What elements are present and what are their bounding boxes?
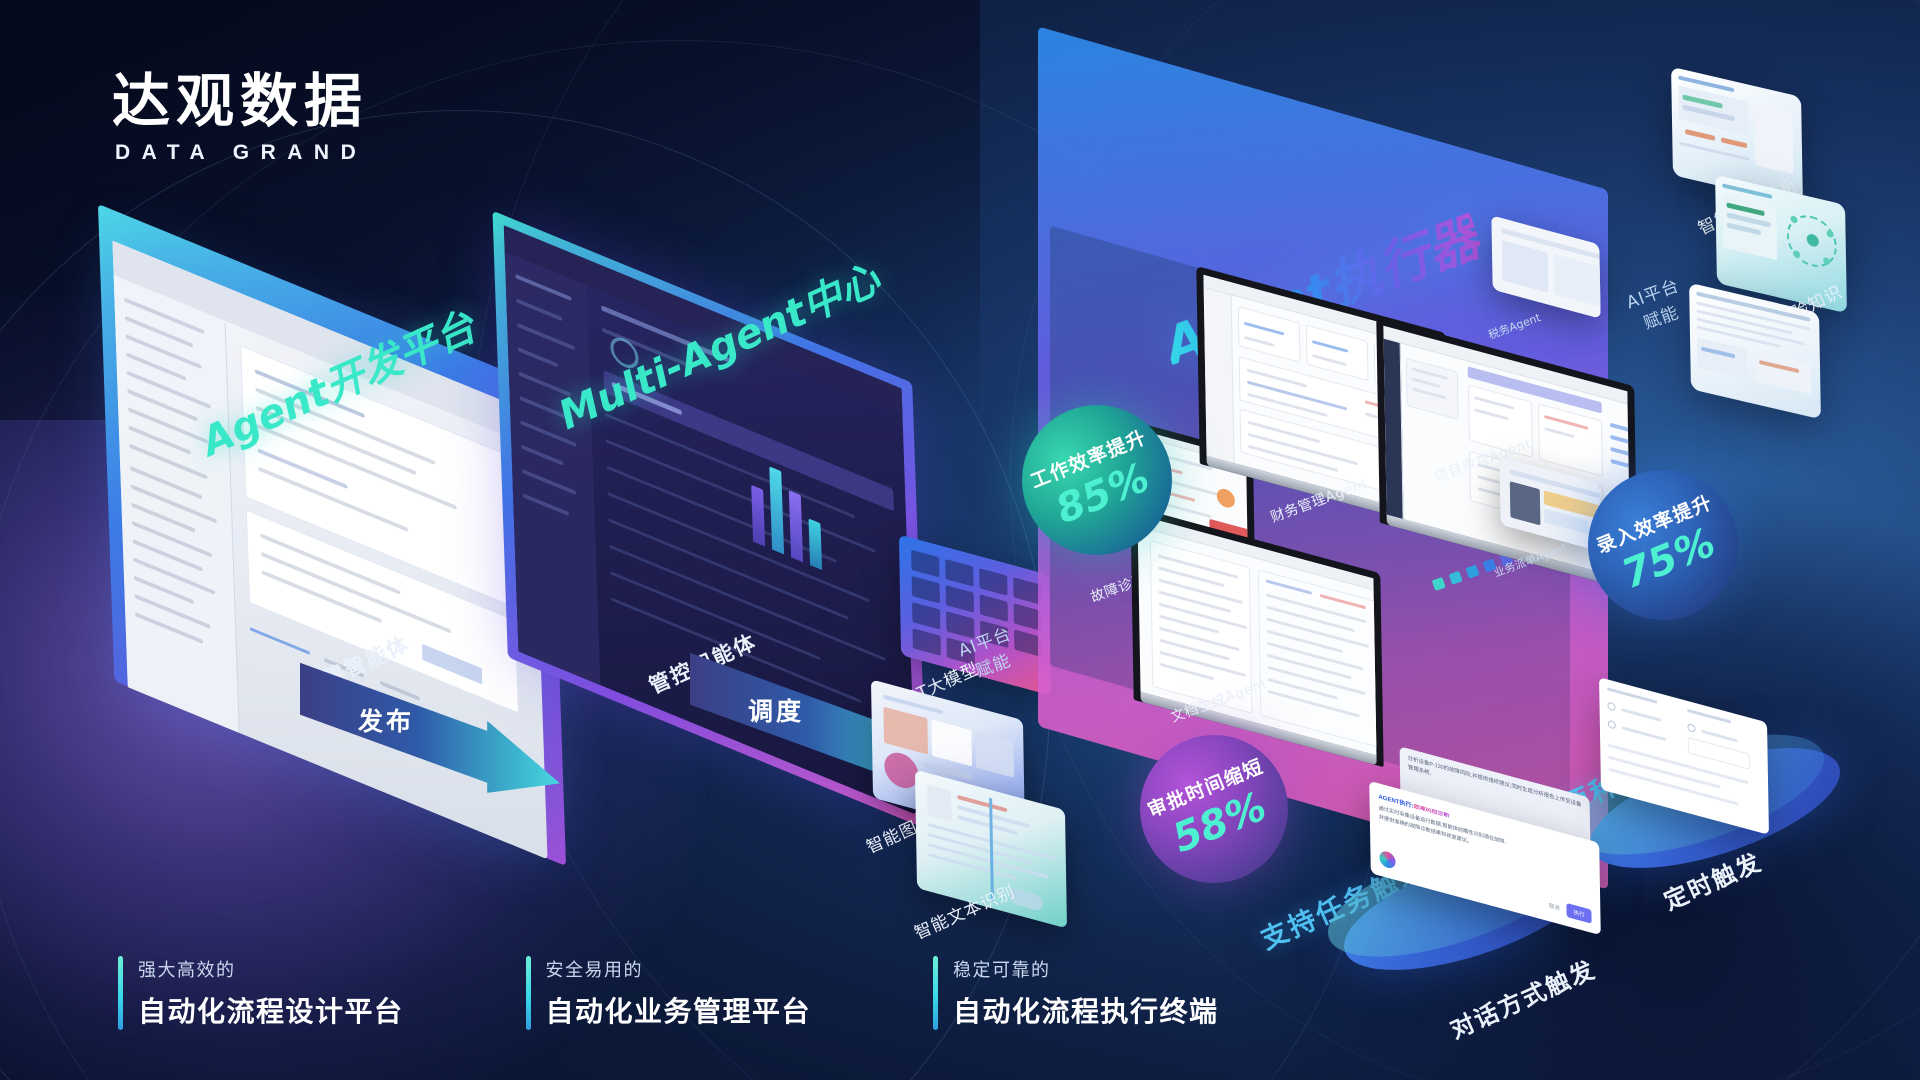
dispatch-arrow-label: 调度 [748, 692, 804, 728]
footer-captions: 强大高效的 自动化流程设计平台 安全易用的 自动化业务管理平台 稳定可靠的 自动… [118, 956, 1219, 1030]
footer-title: 自动化流程执行终端 [953, 990, 1219, 1030]
window-sidebar [114, 277, 240, 733]
footer-item: 强大高效的 自动化流程设计平台 [118, 956, 404, 1030]
agent-avatar-icon [1379, 850, 1395, 870]
footer-subtitle: 强大高效的 [138, 956, 404, 982]
footer-subtitle: 安全易用的 [546, 956, 812, 982]
brand-logo: 达观数据 DATA GRAND [112, 70, 368, 165]
publish-arrow-label: 发布 [358, 702, 414, 738]
footer-item: 稳定可靠的 自动化流程执行终端 [933, 956, 1219, 1030]
brand-name-en: DATA GRAND [115, 141, 368, 165]
footer-accent-bar [933, 956, 938, 1030]
footer-accent-bar [526, 956, 531, 1030]
footer-subtitle: 稳定可靠的 [953, 956, 1219, 982]
footer-title: 自动化流程设计平台 [138, 990, 404, 1030]
footer-title: 自动化业务管理平台 [546, 990, 812, 1030]
footer-item: 安全易用的 自动化业务管理平台 [526, 956, 812, 1030]
infographic-stage: 达观数据 DATA GRAND [0, 0, 1920, 1080]
chat-cancel-button[interactable]: 取消 [1549, 901, 1560, 912]
chat-run-button[interactable]: 执行 [1567, 903, 1592, 924]
footer-accent-bar [118, 956, 123, 1030]
brand-name-cn: 达观数据 [112, 70, 368, 133]
window-sidebar [505, 252, 601, 686]
